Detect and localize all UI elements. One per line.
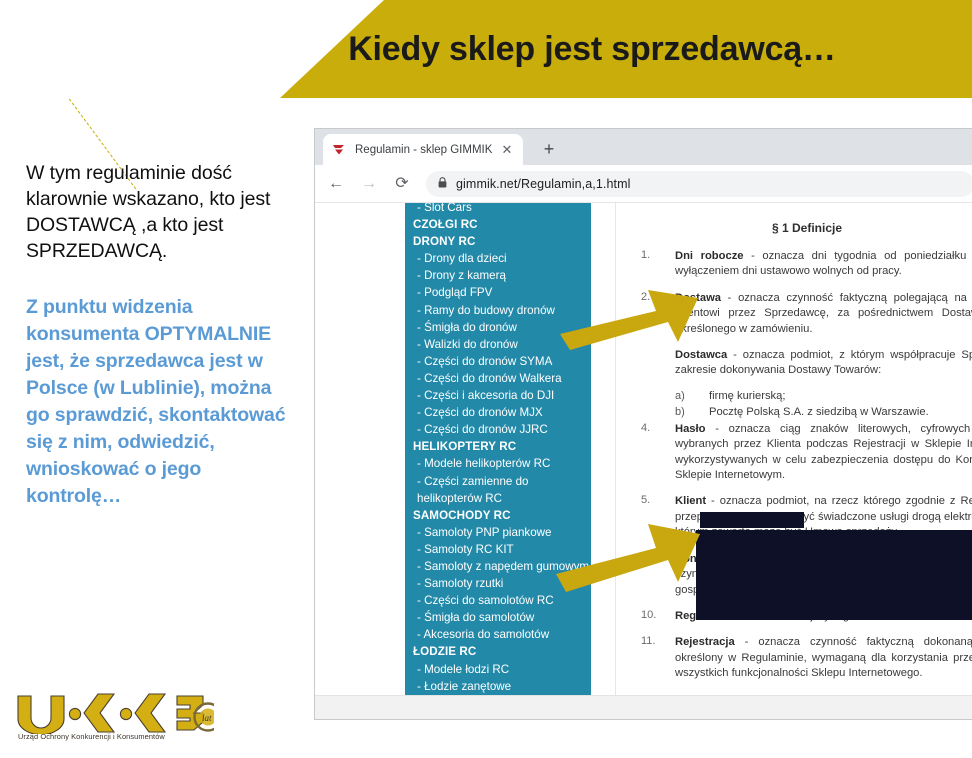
uokik-logo: lat Urząd Ochrony Konkurencji i Konsumen… <box>14 692 214 748</box>
definition-item: Dostawca - oznacza podmiot, z którym wsp… <box>675 348 972 379</box>
page-footer-strip <box>315 695 972 719</box>
shop-menu-item[interactable]: - Części do dronów JJRC <box>405 421 591 438</box>
lock-icon <box>438 177 447 191</box>
shop-menu-item[interactable]: - Części do dronów SYMA <box>405 353 591 370</box>
shop-menu-item[interactable]: - Części do dronów Walkera <box>405 370 591 387</box>
definition-term: Klient <box>675 495 706 507</box>
reload-icon[interactable]: ⟳ <box>389 171 415 197</box>
pointer-arrow-sprzedawca <box>552 512 704 598</box>
new-tab-button[interactable]: + <box>537 138 561 162</box>
subitem-text: Pocztę Polską S.A. z siedzibą w Warszawi… <box>709 406 929 418</box>
page-title: Kiedy sklep jest sprzedawcą… <box>172 0 972 98</box>
definition-number: 10. <box>637 609 675 624</box>
gimmik-favicon <box>331 142 347 158</box>
shop-menu-item[interactable]: - Akcesoria do samolotów <box>405 626 591 643</box>
address-bar[interactable]: gimmik.net/Regulamin,a,1.html <box>426 171 972 197</box>
close-icon[interactable]: ✕ <box>499 142 515 158</box>
shop-menu-item[interactable]: - Łodzie zanętowe <box>405 678 591 695</box>
shop-menu-item[interactable]: - Modele helikopterów RC <box>405 455 591 472</box>
slide-canvas: Kiedy sklep jest sprzedawcą… W tym regul… <box>0 0 972 758</box>
paragraph-black: W tym regulaminie dość klarownie wskazan… <box>26 160 286 264</box>
regulations-document: § 1 Definicje 1.Dni robocze - oznacza dn… <box>637 203 972 695</box>
paragraph-blue: Z punktu widzenia konsumenta OPTYMALNIE … <box>26 294 286 510</box>
definition-item: 4.Hasło - oznacza ciąg znaków literowych… <box>637 422 972 484</box>
definition-body: Dostawca - oznacza podmiot, z którym wsp… <box>675 348 972 379</box>
back-arrow-icon[interactable]: ← <box>323 171 349 197</box>
definition-item: 1.Dni robocze - oznacza dni tygodnia od … <box>637 249 972 280</box>
definition-subitem: a)firmę kurierską; <box>675 390 972 402</box>
browser-tab-active[interactable]: Regulamin - sklep GIMMIK ✕ <box>323 134 523 165</box>
shop-menu-item[interactable]: - Drony dla dzieci <box>405 250 591 267</box>
left-text-column: W tym regulaminie dość klarownie wskazan… <box>26 160 286 510</box>
definition-body: Dostawa - oznacza czynność faktyczną pol… <box>675 291 972 337</box>
title-banner: Kiedy sklep jest sprzedawcą… <box>0 0 972 108</box>
definition-number: 11. <box>637 635 675 681</box>
definition-item: 11.Rejestracja - oznacza czynność faktyc… <box>637 635 972 681</box>
shop-menu-item[interactable]: - Części i akcesoria do DJI <box>405 387 591 404</box>
definition-body: Dni robocze - oznacza dni tygodnia od po… <box>675 249 972 280</box>
url-text: gimmik.net/Regulamin,a,1.html <box>456 177 631 191</box>
shop-menu-item[interactable]: - Części do dronów MJX <box>405 404 591 421</box>
definition-body: Hasło - oznacza ciąg znaków literowych, … <box>675 422 972 484</box>
shop-menu-item[interactable]: CZOŁGI RC <box>405 216 591 233</box>
browser-window: Regulamin - sklep GIMMIK ✕ + ← → ⟳ gimmi… <box>314 128 972 720</box>
definition-text: - oznacza ciąg znaków literowych, cyfrow… <box>675 423 972 481</box>
subitem-text: firmę kurierską; <box>709 390 785 402</box>
redaction-box-block <box>696 530 972 620</box>
shop-menu-item[interactable]: - Części zamienne do helikopterów RC <box>405 473 591 507</box>
pointer-arrow-dostawca <box>556 278 702 354</box>
section-heading: § 1 Definicje <box>637 221 972 235</box>
logo-caption: Urząd Ochrony Konkurencji i Konsumentów <box>18 732 165 741</box>
redaction-box-inline <box>700 512 804 528</box>
definition-number: 4. <box>637 422 675 484</box>
shop-menu-item[interactable]: HELIKOPTERY RC <box>405 438 591 455</box>
shop-menu-item[interactable]: - Śmigła do samolotów <box>405 609 591 626</box>
browser-tab-title: Regulamin - sklep GIMMIK <box>355 144 493 156</box>
browser-tabstrip: Regulamin - sklep GIMMIK ✕ + <box>315 129 972 165</box>
uokik-logo-mark: lat <box>14 692 214 734</box>
definition-number: 1. <box>637 249 675 280</box>
forward-arrow-icon[interactable]: → <box>356 171 382 197</box>
shop-menu-item[interactable]: DRONY RC <box>405 233 591 250</box>
definition-term: Dni robocze <box>675 250 744 262</box>
definition-body: Rejestracja - oznacza czynność faktyczną… <box>675 635 972 681</box>
definition-subitem: b)Pocztę Polską S.A. z siedzibą w Warsza… <box>675 406 972 418</box>
subitem-label: b) <box>675 406 709 418</box>
content-divider <box>615 203 616 695</box>
definition-term: Hasło <box>675 423 705 435</box>
shop-menu-item[interactable]: - Modele łodzi RC <box>405 661 591 678</box>
shop-menu-item[interactable]: ŁODZIE RC <box>405 643 591 660</box>
shop-category-sidebar: - Slot CarsCZOŁGI RCDRONY RC- Drony dla … <box>405 203 591 695</box>
browser-toolbar: ← → ⟳ gimmik.net/Regulamin,a,1.html <box>315 165 972 203</box>
subitem-label: a) <box>675 390 709 402</box>
anniversary-lat-label: lat <box>202 713 212 723</box>
shop-menu-item[interactable]: - Slot Cars <box>405 203 591 216</box>
definition-term: Rejestracja <box>675 636 735 648</box>
